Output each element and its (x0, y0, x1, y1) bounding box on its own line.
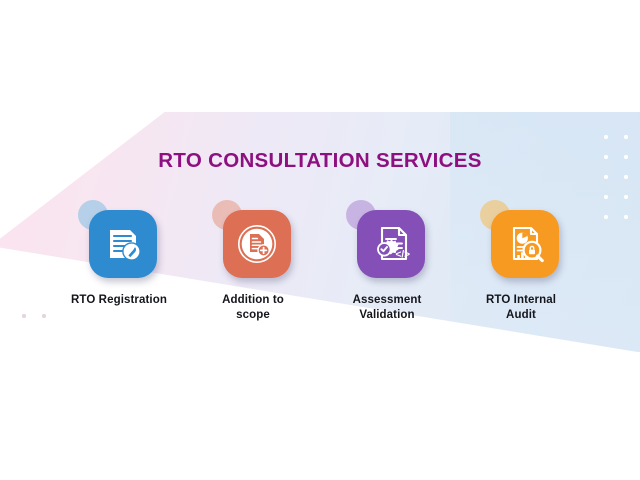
document-edit-icon[interactable] (89, 210, 157, 278)
document-add-circle-icon[interactable] (223, 210, 291, 278)
service-card-label: Assessment Validation (339, 293, 435, 322)
screenshot-root: RTO CONSULTATION SERVICES (0, 0, 640, 480)
rto-services-banner: RTO CONSULTATION SERVICES (0, 112, 640, 352)
document-chart-search-lock-icon[interactable] (491, 210, 559, 278)
icon-wrapper (482, 204, 560, 282)
service-card-addition-to-scope[interactable]: Addition to scope (205, 204, 301, 322)
page-title: RTO CONSULTATION SERVICES (0, 149, 640, 173)
service-card-label: RTO Registration (71, 293, 167, 308)
service-card-assessment-validation[interactable]: </> Assessment Validation (339, 204, 435, 322)
service-card-list: RTO Registration (0, 204, 640, 322)
service-card-label: Addition to scope (205, 293, 301, 322)
service-card-rto-registration[interactable]: RTO Registration (71, 204, 167, 322)
service-card-rto-internal-audit[interactable]: RTO Internal Audit (473, 204, 569, 322)
service-card-label: RTO Internal Audit (473, 293, 569, 322)
svg-text:</>: </> (396, 250, 411, 261)
icon-wrapper (80, 204, 158, 282)
icon-wrapper (214, 204, 292, 282)
icon-wrapper: </> (348, 204, 426, 282)
document-gear-check-code-icon[interactable]: </> (357, 210, 425, 278)
